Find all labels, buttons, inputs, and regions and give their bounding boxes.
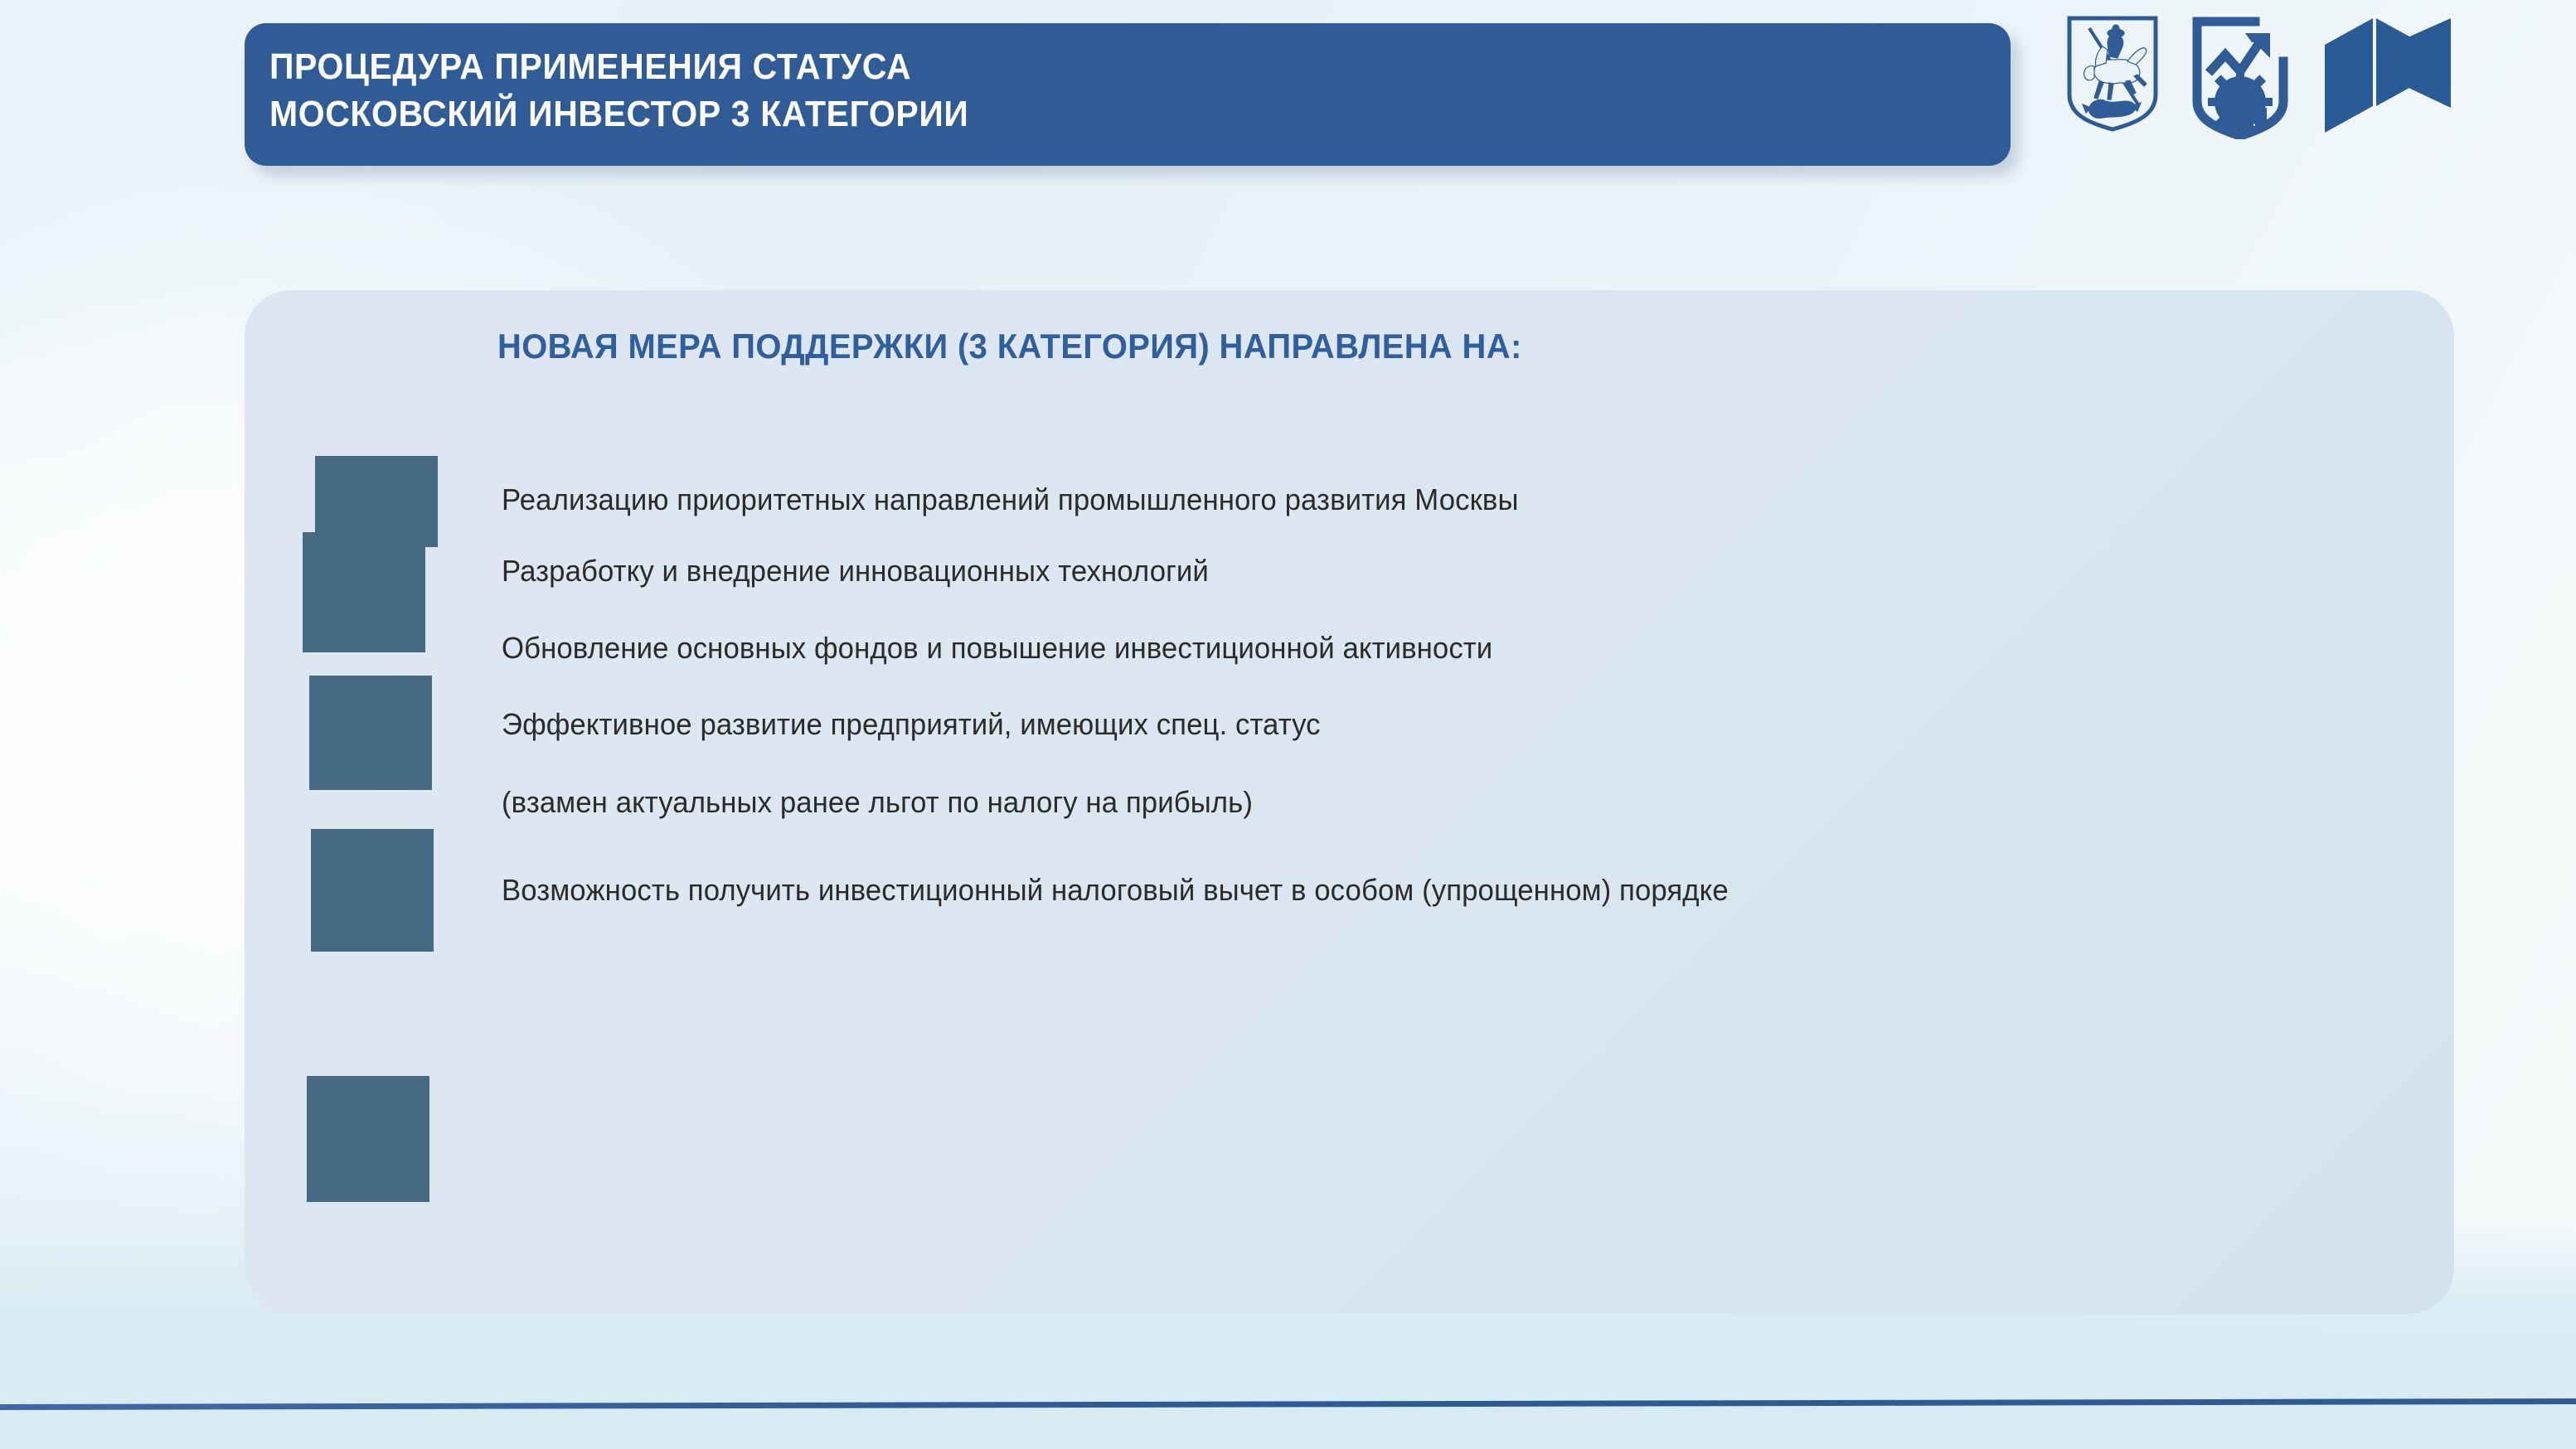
list-item-label: Разработку и внедрение инновационных тех… [502, 554, 1209, 589]
benefits-list: Реализацию приоритетных направлений пром… [245, 290, 2454, 1314]
bullet-square-icon [307, 1076, 429, 1202]
bullet-square-icon [303, 532, 425, 652]
bullet-square-icon [309, 676, 432, 790]
list-item-sublabel: (взамен актуальных ранее льгот по налогу… [502, 785, 1253, 820]
list-item-label: Реализацию приоритетных направлений пром… [502, 482, 1519, 517]
content-card: НОВАЯ МЕРА ПОДДЕРЖКИ (3 КАТЕГОРИЯ) НАПРА… [245, 290, 2454, 1314]
footer-divider [0, 1398, 2576, 1410]
moscow-coat-of-arms-logo [2066, 15, 2159, 133]
industry-growth-shield-logo [2190, 15, 2290, 139]
bullet-square-icon [311, 829, 434, 952]
slide-root: ПРОЦЕДУРА ПРИМЕНЕНИЯ СТАТУСА МОСКОВСКИЙ … [0, 0, 2576, 1449]
logo-group [2066, 15, 2454, 139]
header-bar: ПРОЦЕДУРА ПРИМЕНЕНИЯ СТАТУСА МОСКОВСКИЙ … [245, 23, 2011, 166]
list-item-label: Возможность получить инвестиционный нало… [502, 873, 1729, 908]
moscow-m-logo [2321, 15, 2454, 138]
page-title: ПРОЦЕДУРА ПРИМЕНЕНИЯ СТАТУСА МОСКОВСКИЙ … [269, 43, 968, 138]
list-item-label: Эффективное развитие предприятий, имеющи… [502, 707, 1321, 742]
list-item-label: Обновление основных фондов и повышение и… [502, 631, 1492, 666]
